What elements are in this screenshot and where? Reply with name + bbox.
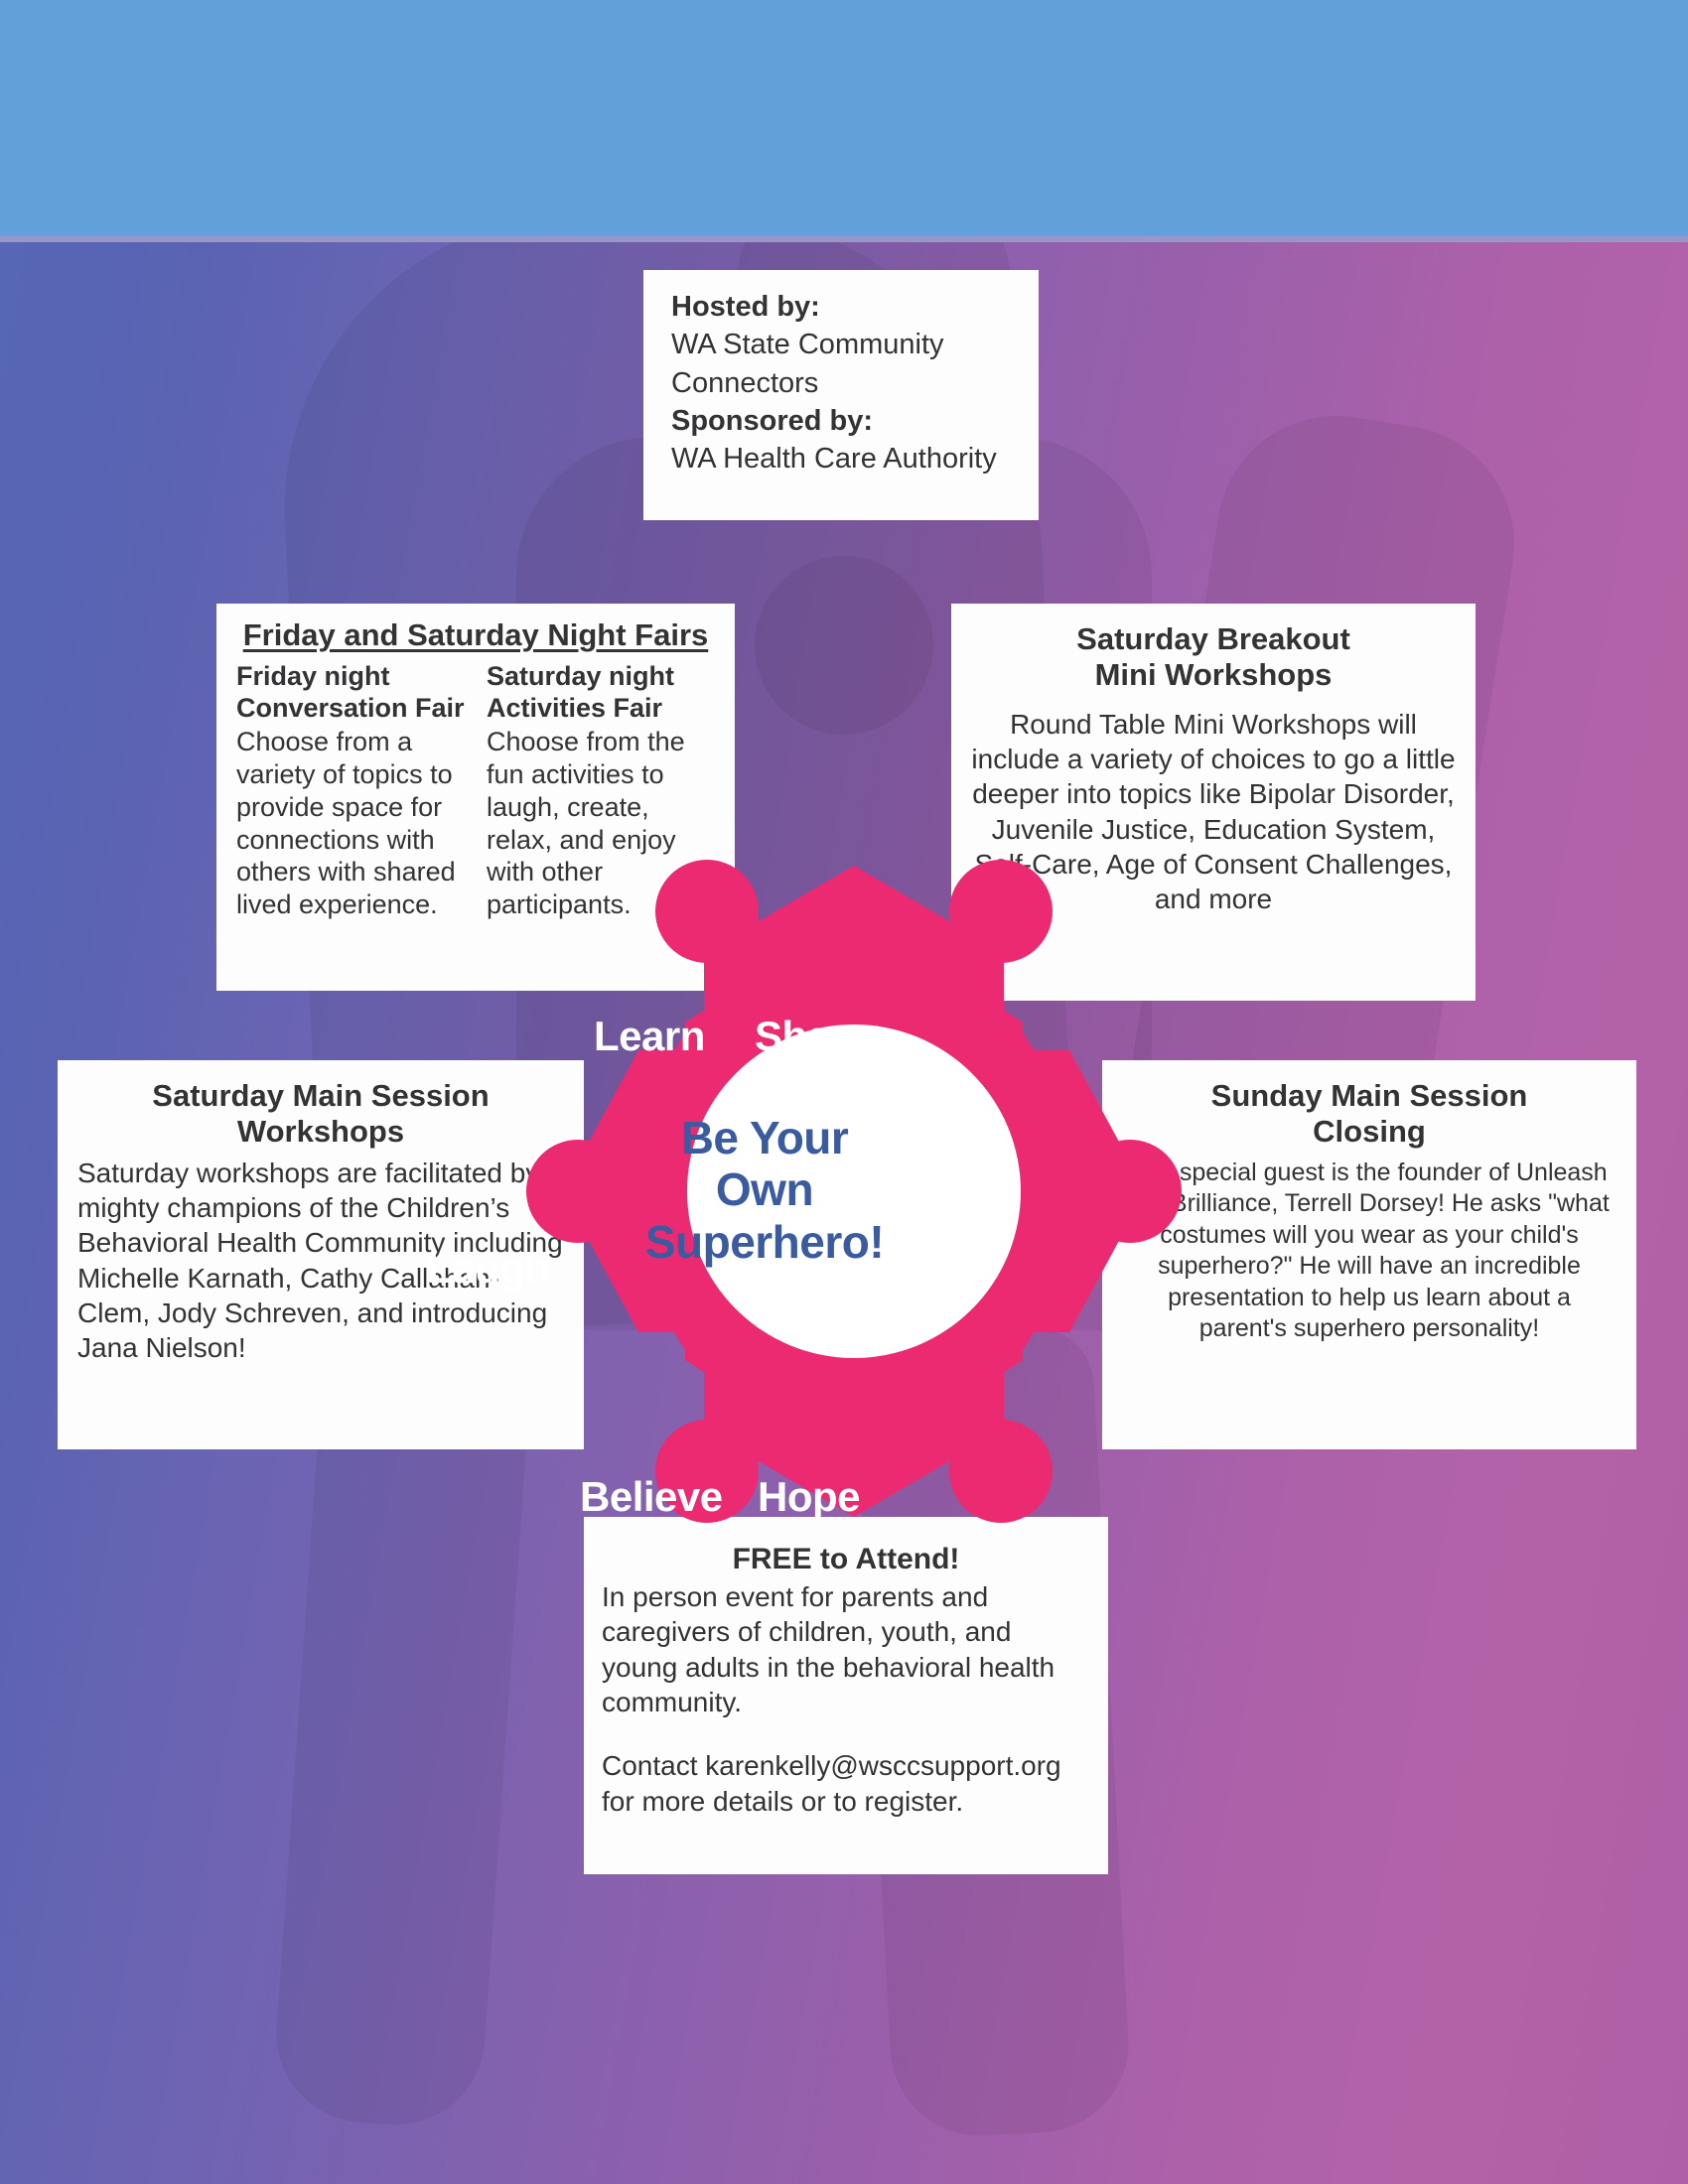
poster-root: W S C C WA Statewide Family Network 2022…: [0, 0, 1688, 2184]
sunday-main-session-card: Sunday Main Session Closing Our special …: [1102, 1060, 1636, 1449]
free-to-attend-contact: Contact karenkelly@wsccsupport.org for m…: [602, 1748, 1090, 1819]
saturday-fair-subtitle: Saturday night Activities Fair: [487, 661, 715, 725]
sponsored-by-value: WA Health Care Authority: [671, 440, 1011, 478]
hosted-by-value: WA State Community Connectors: [671, 326, 1011, 402]
badge-word-hope: Hope: [758, 1473, 860, 1521]
sunday-main-title-line-2: Closing: [1313, 1114, 1426, 1149]
badge-word-share: Share: [755, 1013, 868, 1060]
sunday-main-body: Our special guest is the founder of Unle…: [1124, 1158, 1615, 1345]
badge-word-learn: Learn: [594, 1013, 705, 1060]
saturday-breakout-title-line-1: Saturday Breakout: [1076, 621, 1350, 656]
saturday-breakout-title: Saturday Breakout Mini Workshops: [971, 621, 1456, 693]
badge-word-laugh: Laugh: [427, 1245, 549, 1293]
badge-center-line-3: Superhero!: [635, 1216, 894, 1268]
friday-fair-body: Choose from a variety of topics to provi…: [236, 726, 465, 922]
badge-center-line-1: Be Your: [635, 1112, 894, 1163]
sunday-main-title: Sunday Main Session Closing: [1124, 1078, 1615, 1150]
saturday-main-title: Saturday Main Session Workshops: [77, 1078, 564, 1150]
hosted-by-label: Hosted by:: [671, 288, 1011, 326]
header-band: [0, 0, 1688, 238]
free-to-attend-card: FREE to Attend! In person event for pare…: [584, 1517, 1108, 1874]
night-fairs-title: Friday and Saturday Night Fairs: [236, 617, 715, 653]
badge-word-believe: Believe: [580, 1473, 723, 1521]
friday-fair-subtitle: Friday night Conversation Fair: [236, 661, 465, 725]
badge-center-line-2: Own: [635, 1163, 894, 1215]
free-to-attend-title: FREE to Attend!: [602, 1543, 1090, 1577]
saturday-breakout-title-line-2: Mini Workshops: [1095, 657, 1333, 692]
free-to-attend-body: In person event for parents and caregive…: [602, 1579, 1090, 1720]
hosted-by-card: Hosted by: WA State Community Connectors…: [643, 270, 1039, 520]
sponsored-by-label: Sponsored by:: [671, 402, 1011, 440]
saturday-main-title-line-2: Workshops: [237, 1114, 404, 1149]
friday-fair-column: Friday night Conversation Fair Choose fr…: [236, 661, 465, 921]
badge-center-text: Be Your Own Superhero!: [635, 1112, 894, 1268]
header-divider: [0, 236, 1688, 242]
saturday-main-title-line-1: Saturday Main Session: [152, 1078, 489, 1113]
sunday-main-title-line-1: Sunday Main Session: [1211, 1078, 1528, 1113]
